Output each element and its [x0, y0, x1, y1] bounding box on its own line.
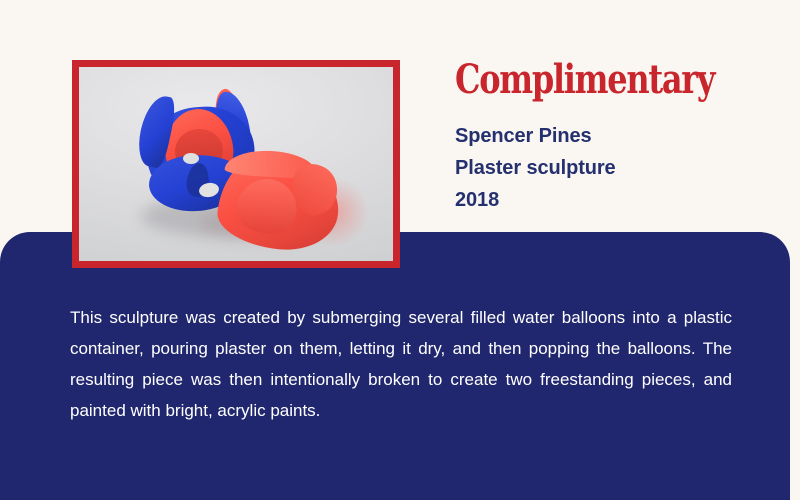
artwork-medium: Plaster sculpture [455, 152, 755, 184]
artwork-photo [79, 67, 393, 261]
artist-name: Spencer Pines [455, 120, 755, 152]
artwork-photo-frame [72, 60, 400, 268]
artwork-slide: Complimentary Spencer Pines Plaster scul… [0, 0, 800, 500]
sculpture-hole-upper [183, 153, 199, 164]
artwork-metadata: Spencer Pines Plaster sculpture 2018 [455, 120, 755, 216]
artwork-description: This sculpture was created by submerging… [70, 302, 732, 426]
artwork-title: Complimentary [455, 58, 695, 102]
artwork-year: 2018 [455, 184, 755, 216]
title-block: Complimentary [455, 58, 755, 102]
